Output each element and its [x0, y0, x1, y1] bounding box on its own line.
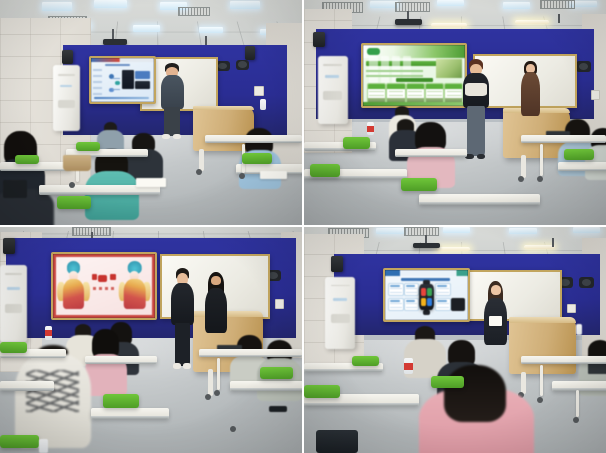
- collage-panel-bottom-right: [304, 227, 606, 453]
- desk: [419, 194, 540, 205]
- smartphone[interactable]: [3, 180, 27, 198]
- desk-leg: [540, 365, 543, 397]
- ceiling-light-panel: [94, 0, 127, 8]
- caster-wheel: [239, 173, 245, 179]
- desk: [395, 149, 467, 157]
- ceiling-light-panel: [376, 228, 403, 234]
- ceiling-light-panel: [199, 27, 223, 33]
- desk: [558, 162, 606, 171]
- audience-member: [85, 149, 139, 217]
- projector-mount: [558, 14, 560, 23]
- desk: [552, 381, 606, 391]
- water-bottle: [39, 439, 48, 453]
- projector-mount: [552, 238, 554, 247]
- projector-mount: [205, 36, 207, 45]
- podium-leg: [521, 155, 526, 178]
- projector: [395, 19, 422, 25]
- presenter-standing: [202, 272, 229, 333]
- ceiling-light-panel: [230, 1, 260, 9]
- water-bottle: [367, 122, 374, 136]
- ceiling-vent: [395, 2, 430, 12]
- desk: [230, 381, 302, 391]
- caster-wheel: [518, 176, 524, 182]
- classroom-scene-2: [304, 0, 606, 225]
- chair: [343, 137, 370, 148]
- shirt-graphic-print: [26, 370, 79, 412]
- ceiling-light-panel: [443, 227, 470, 233]
- ceiling-speaker: [313, 32, 325, 48]
- wall-camera: [236, 60, 250, 70]
- water-bottle: [45, 326, 52, 340]
- presenter-standing: [157, 63, 187, 140]
- desk: [0, 381, 54, 391]
- ceiling-tube-light: [431, 23, 467, 27]
- app-icon-grid: [421, 288, 432, 306]
- ceiling-light-panel: [503, 2, 530, 8]
- collage-panel-bottom-left: [0, 227, 302, 453]
- interactive-display-1[interactable]: [89, 56, 155, 103]
- handbag: [63, 155, 90, 171]
- desk: [521, 356, 606, 365]
- chair: [76, 142, 100, 151]
- slide-tech-diagram: [91, 58, 153, 101]
- interactive-display-4[interactable]: [383, 268, 471, 322]
- chair: [103, 394, 139, 408]
- podium-leg: [208, 369, 213, 396]
- ceiling-speaker: [62, 50, 73, 65]
- paper-handout: [260, 171, 287, 179]
- chair: [401, 178, 437, 192]
- desk: [91, 408, 170, 419]
- desk-leg: [217, 358, 220, 390]
- ceiling-tube-light: [515, 20, 548, 24]
- slide-smartwatch-poster: [385, 270, 469, 320]
- classroom-scene-3: [0, 227, 302, 453]
- desk-leg: [540, 144, 543, 176]
- air-conditioner: [318, 56, 348, 124]
- desk: [199, 349, 302, 357]
- ceiling-light-panel: [437, 0, 464, 6]
- ceiling-light-panel: [133, 25, 160, 32]
- chair: [431, 376, 464, 388]
- smartphone[interactable]: [269, 406, 287, 413]
- ceiling-speaker: [3, 238, 15, 254]
- chair: [304, 385, 340, 398]
- interactive-display-2[interactable]: [361, 43, 467, 108]
- desk: [85, 356, 157, 364]
- chair: [564, 149, 594, 160]
- water-bottle: [576, 324, 583, 335]
- ceiling-tube-light: [437, 247, 470, 251]
- water-bottle: [404, 358, 413, 374]
- opera-figure-left: [59, 261, 88, 310]
- slide-opera-poster: [53, 254, 155, 318]
- photo-collage: [0, 0, 606, 453]
- desk: [521, 135, 606, 143]
- ceiling-light-panel: [370, 1, 397, 8]
- wall-camera: [576, 61, 591, 72]
- caster-wheel: [537, 176, 543, 182]
- ceiling-vent: [540, 0, 575, 9]
- chair: [310, 164, 340, 177]
- ceiling-light-panel: [509, 228, 536, 234]
- ceiling-light-panel: [573, 227, 600, 233]
- chair: [0, 435, 39, 449]
- presenter-standing: [461, 59, 491, 163]
- projector: [413, 243, 440, 248]
- wall-outlet: [254, 86, 264, 96]
- ceiling-speaker: [331, 256, 343, 272]
- classroom-scene-4: [304, 227, 606, 453]
- ceiling-vent: [178, 7, 210, 16]
- chair: [242, 153, 272, 164]
- chair: [57, 196, 90, 210]
- podium: [509, 317, 575, 374]
- presenter-standing: [482, 281, 509, 349]
- wall-outlet: [591, 90, 600, 100]
- podium-leg: [199, 149, 204, 172]
- slide-green-website: [363, 45, 465, 106]
- chair: [0, 342, 27, 352]
- chair: [15, 155, 39, 164]
- water-bottle: [260, 99, 266, 110]
- air-conditioner: [53, 65, 80, 130]
- caster-wheel: [573, 417, 579, 423]
- desk: [205, 135, 302, 143]
- opera-figure-right: [120, 261, 149, 310]
- paper-handout: [136, 178, 166, 187]
- desk-leg: [576, 390, 579, 417]
- caster-wheel: [230, 426, 236, 432]
- caster-wheel: [537, 397, 543, 403]
- chair: [352, 356, 379, 366]
- ceiling-vent: [404, 227, 439, 236]
- interactive-display-3[interactable]: [51, 252, 157, 320]
- ceiling-tube-light: [524, 245, 554, 249]
- ceiling-light-panel: [42, 2, 72, 11]
- app-icon-grid-small: [451, 298, 464, 311]
- presenter-standing: [518, 61, 542, 117]
- classroom-scene-1: [0, 0, 302, 225]
- air-conditioner: [325, 277, 355, 349]
- wall-outlet: [567, 304, 576, 313]
- ceiling-speaker: [245, 46, 255, 60]
- audience-member-foreground: [15, 345, 91, 444]
- wall-camera: [579, 277, 594, 288]
- air-conditioner: [0, 265, 27, 342]
- collage-panel-top-left: [0, 0, 302, 225]
- presenter-standing: [169, 268, 196, 372]
- chair: [316, 430, 358, 453]
- chair: [260, 367, 293, 379]
- collage-panel-top-right: [304, 0, 606, 225]
- wall-outlet: [275, 299, 284, 308]
